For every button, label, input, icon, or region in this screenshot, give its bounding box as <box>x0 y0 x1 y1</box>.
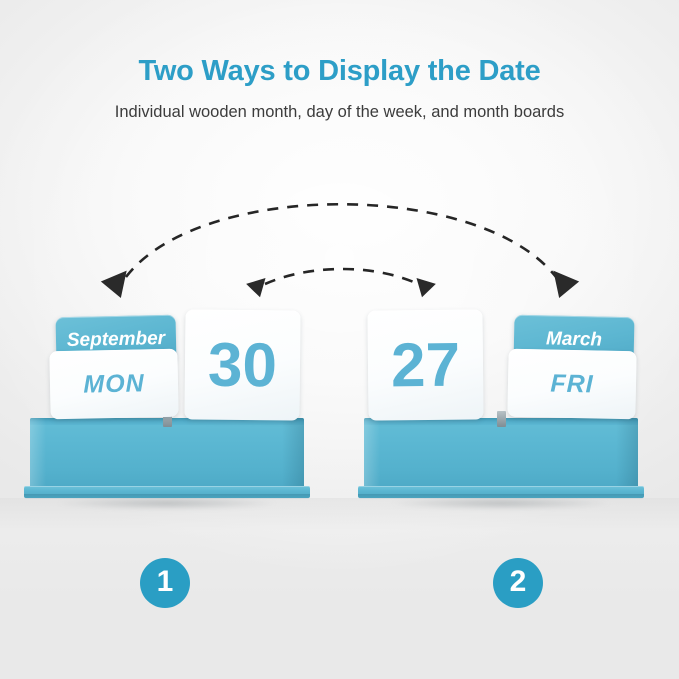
tray-divider-right <box>497 411 506 427</box>
tray-plinth-shade-left <box>24 494 310 499</box>
step-badge-2-label: 2 <box>510 567 527 597</box>
date-tile-right-label: 27 <box>391 329 461 401</box>
floor-gradient <box>0 498 679 679</box>
calendar-display-2[interactable]: 27 March FRI <box>356 308 646 513</box>
calendar-display-1[interactable]: September MON 30 <box>22 308 312 513</box>
weekday-tile-right-label: FRI <box>550 369 594 399</box>
month-tile-right-label: March <box>546 328 602 351</box>
inner-swap-arrow <box>244 269 439 297</box>
weekday-tile-left-label: MON <box>83 369 145 399</box>
step-badge-1: 1 <box>140 558 190 608</box>
date-tile-left-label: 30 <box>208 329 278 401</box>
tray-plinth-shade-right <box>358 494 644 499</box>
date-tile-left[interactable]: 30 <box>184 309 300 420</box>
tray-box-left <box>30 418 304 490</box>
tray-right-shade <box>616 418 638 490</box>
page-title: Two Ways to Display the Date <box>0 55 679 88</box>
weekday-tile-left[interactable]: MON <box>49 349 178 420</box>
outer-swap-arrow <box>98 204 581 298</box>
infographic-canvas: Two Ways to Display the Date Individual … <box>0 0 679 679</box>
tray-box-right <box>364 418 638 490</box>
tray-left-highlight <box>30 418 46 490</box>
date-tile-right[interactable]: 27 <box>367 309 483 420</box>
page-subtitle: Individual wooden month, day of the week… <box>0 103 679 122</box>
step-badge-1-label: 1 <box>157 567 174 597</box>
tray-right-shade <box>282 418 304 490</box>
step-badge-2: 2 <box>493 558 543 608</box>
weekday-tile-right[interactable]: FRI <box>507 349 636 420</box>
tray-left-highlight <box>364 418 380 490</box>
